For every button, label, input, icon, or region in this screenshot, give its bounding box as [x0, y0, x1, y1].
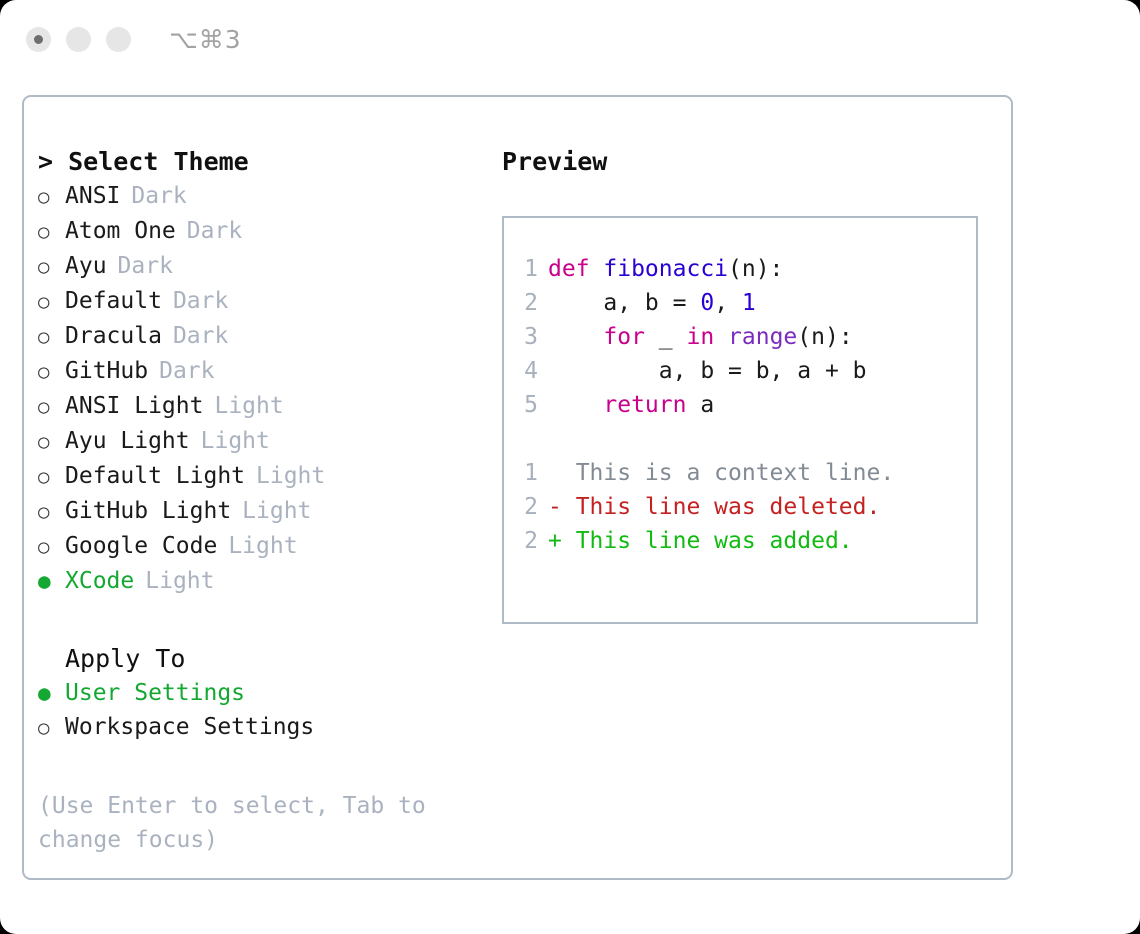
- code-line: 1def fibonacci(n):: [504, 252, 976, 286]
- title-bar: ⌥⌘3: [0, 0, 1140, 78]
- diff-line-text: - This line was deleted.: [548, 490, 880, 524]
- theme-item-11[interactable]: ●XCodeLight: [38, 564, 488, 598]
- preview-column: Preview 1def fibonacci(n):2 a, b = 0, 13…: [502, 145, 992, 624]
- traffic-light-third[interactable]: [106, 27, 131, 52]
- code-line-text: a, b = 0, 1: [548, 286, 756, 320]
- theme-item-label: Ayu Light: [65, 424, 190, 458]
- radio-empty-icon: ○: [38, 495, 65, 529]
- keyboard-hint: (Use Enter to select, Tab to change focu…: [38, 789, 438, 857]
- traffic-light-second[interactable]: [66, 27, 91, 52]
- radio-selected-icon: ●: [38, 564, 65, 598]
- code-line: 5 return a: [504, 388, 976, 422]
- code-sample: 1def fibonacci(n):2 a, b = 0, 13 for _ i…: [504, 252, 976, 422]
- code-line-text: def fibonacci(n):: [548, 252, 783, 286]
- apply-item-label: Workspace Settings: [65, 710, 314, 744]
- preview-box: 1def fibonacci(n):2 a, b = 0, 13 for _ i…: [502, 216, 978, 624]
- code-token: [548, 392, 603, 418]
- theme-item-1[interactable]: ○Atom OneDark: [38, 214, 488, 249]
- diff-line: 1 This is a context line.: [504, 456, 976, 490]
- code-line-number: 3: [504, 320, 548, 354]
- diff-sample: 1 This is a context line.2- This line wa…: [504, 456, 976, 558]
- theme-item-2[interactable]: ○AyuDark: [38, 249, 488, 284]
- apply-to-list[interactable]: ●User Settings○Workspace Settings: [38, 676, 488, 745]
- code-token: [714, 324, 728, 350]
- record-dot-icon: [34, 35, 43, 44]
- radio-empty-icon: ○: [38, 320, 65, 354]
- theme-picker-column: > Select Theme ○ANSIDark○Atom OneDark○Ay…: [38, 145, 488, 857]
- diff-line: 2+ This line was added.: [504, 524, 976, 558]
- theme-item-0[interactable]: ○ANSIDark: [38, 179, 488, 214]
- code-token: a, b = b, a + b: [548, 358, 867, 384]
- app-window: ⌥⌘3 > Select Theme ○ANSIDark○Atom OneDar…: [0, 0, 1140, 934]
- radio-empty-icon: ○: [38, 355, 65, 389]
- radio-empty-icon: ○: [38, 390, 65, 424]
- theme-list[interactable]: ○ANSIDark○Atom OneDark○AyuDark○DefaultDa…: [38, 179, 488, 598]
- theme-kind-label: Light: [256, 459, 325, 493]
- code-line-text: a, b = b, a + b: [548, 354, 867, 388]
- theme-kind-label: Light: [242, 494, 311, 528]
- code-line: 4 a, b = b, a + b: [504, 354, 976, 388]
- code-token: fibonacci: [603, 256, 728, 282]
- code-line-text: return a: [548, 388, 714, 422]
- main-panel: > Select Theme ○ANSIDark○Atom OneDark○Ay…: [22, 95, 1013, 880]
- code-token: _: [645, 324, 687, 350]
- code-line-number: 4: [504, 354, 548, 388]
- code-line: 3 for _ in range(n):: [504, 320, 976, 354]
- code-line-number: 5: [504, 388, 548, 422]
- shortcut-label: ⌥⌘3: [169, 25, 242, 54]
- code-token: 1: [742, 290, 756, 316]
- radio-empty-icon: ○: [38, 530, 65, 564]
- diff-line-text: + This line was added.: [548, 524, 853, 558]
- traffic-light-active[interactable]: [26, 27, 51, 52]
- code-token: (n):: [728, 256, 783, 282]
- theme-item-8[interactable]: ○Default LightLight: [38, 459, 488, 494]
- theme-item-4[interactable]: ○DraculaDark: [38, 319, 488, 354]
- radio-empty-icon: ○: [38, 215, 65, 249]
- theme-kind-label: Dark: [131, 179, 186, 213]
- code-token: [548, 324, 603, 350]
- theme-item-label: ANSI: [65, 179, 120, 213]
- radio-empty-icon: ○: [38, 425, 65, 459]
- code-token: a: [686, 392, 714, 418]
- diff-line-number: 2: [504, 490, 548, 524]
- theme-kind-label: Dark: [173, 319, 228, 353]
- theme-kind-label: Dark: [187, 214, 242, 248]
- diff-line-number: 2: [504, 524, 548, 558]
- theme-item-label: Default Light: [65, 459, 245, 493]
- theme-kind-label: Light: [228, 529, 297, 563]
- code-line: 2 a, b = 0, 1: [504, 286, 976, 320]
- diff-line: 2- This line was deleted.: [504, 490, 976, 524]
- theme-item-6[interactable]: ○ANSI LightLight: [38, 389, 488, 424]
- preview-heading: Preview: [502, 145, 992, 179]
- diff-line-number: 1: [504, 456, 548, 490]
- theme-item-label: GitHub: [65, 354, 148, 388]
- code-token: def: [548, 256, 603, 282]
- code-token: (n):: [797, 324, 852, 350]
- theme-kind-label: Dark: [173, 284, 228, 318]
- theme-item-label: Google Code: [65, 529, 217, 563]
- theme-kind-label: Light: [201, 424, 270, 458]
- code-token: 0: [700, 290, 714, 316]
- radio-empty-icon: ○: [38, 285, 65, 319]
- code-diff-spacer: [504, 422, 976, 456]
- apply-to-heading: Apply To: [38, 642, 488, 676]
- theme-item-7[interactable]: ○Ayu LightLight: [38, 424, 488, 459]
- radio-empty-icon: ○: [38, 460, 65, 494]
- radio-empty-icon: ○: [38, 250, 65, 284]
- apply-item-label: User Settings: [65, 676, 245, 710]
- theme-kind-label: Dark: [159, 354, 214, 388]
- code-line-number: 2: [504, 286, 548, 320]
- code-token: return: [603, 392, 686, 418]
- theme-kind-label: Light: [214, 389, 283, 423]
- theme-item-9[interactable]: ○GitHub LightLight: [38, 494, 488, 529]
- code-token: for: [603, 324, 645, 350]
- radio-empty-icon: ○: [38, 711, 65, 745]
- apply-to-block: Apply To ●User Settings○Workspace Settin…: [38, 642, 488, 745]
- theme-item-label: XCode: [65, 564, 134, 598]
- theme-item-label: Atom One: [65, 214, 176, 248]
- diff-line-text: This is a context line.: [548, 456, 894, 490]
- theme-item-label: ANSI Light: [65, 389, 203, 423]
- theme-item-label: Ayu: [65, 249, 107, 283]
- theme-item-5[interactable]: ○GitHubDark: [38, 354, 488, 389]
- theme-item-label: Default: [65, 284, 162, 318]
- code-line-text: for _ in range(n):: [548, 320, 853, 354]
- theme-item-label: GitHub Light: [65, 494, 231, 528]
- theme-item-label: Dracula: [65, 319, 162, 353]
- apply-item-0[interactable]: ●User Settings: [38, 676, 488, 710]
- code-line-number: 1: [504, 252, 548, 286]
- radio-empty-icon: ○: [38, 180, 65, 214]
- code-token: in: [686, 324, 714, 350]
- traffic-lights: [26, 27, 131, 52]
- apply-item-1[interactable]: ○Workspace Settings: [38, 710, 488, 745]
- theme-item-3[interactable]: ○DefaultDark: [38, 284, 488, 319]
- code-token: a, b =: [548, 290, 700, 316]
- theme-item-10[interactable]: ○Google CodeLight: [38, 529, 488, 564]
- theme-kind-label: Dark: [118, 249, 173, 283]
- radio-selected-icon: ●: [38, 676, 65, 710]
- code-token: ,: [714, 290, 742, 316]
- theme-kind-label: Light: [145, 564, 214, 598]
- code-token: range: [728, 324, 797, 350]
- select-theme-heading: > Select Theme: [38, 145, 488, 179]
